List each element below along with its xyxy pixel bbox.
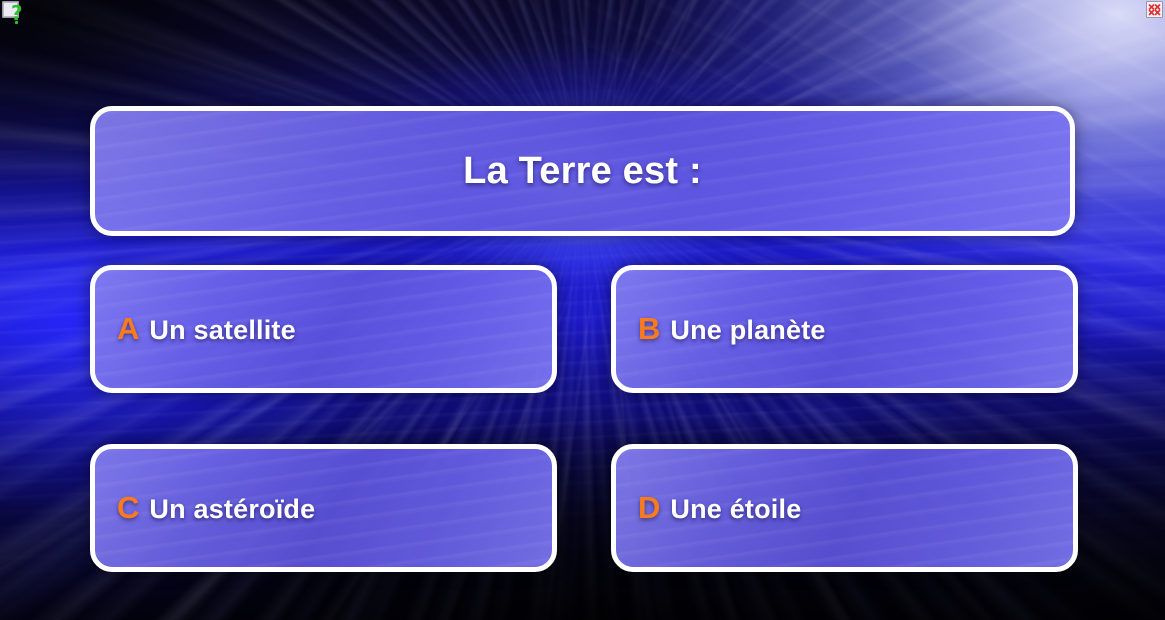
- answer-letter-d: D: [638, 490, 660, 526]
- question-panel: La Terre est :: [90, 106, 1075, 236]
- broken-image-question-mark-icon: [2, 1, 19, 18]
- broken-image-icon: [1146, 1, 1163, 18]
- question-text: La Terre est :: [463, 150, 702, 193]
- answer-option-d[interactable]: D Une étoile: [611, 444, 1078, 572]
- answer-letter-c: C: [117, 490, 139, 526]
- answer-text-d: Une étoile: [670, 494, 801, 525]
- answer-letter-a: A: [117, 311, 139, 347]
- answer-letter-b: B: [638, 311, 660, 347]
- answer-text-b: Une planète: [670, 315, 825, 346]
- answer-option-b[interactable]: B Une planète: [611, 265, 1078, 393]
- answer-option-a[interactable]: A Un satellite: [90, 265, 557, 393]
- quiz-screen: ? La Terre est : A Un satellite: [0, 0, 1165, 620]
- answer-option-c[interactable]: C Un astéroïde: [90, 444, 557, 572]
- answer-text-a: Un satellite: [149, 315, 295, 346]
- answer-text-c: Un astéroïde: [149, 494, 315, 525]
